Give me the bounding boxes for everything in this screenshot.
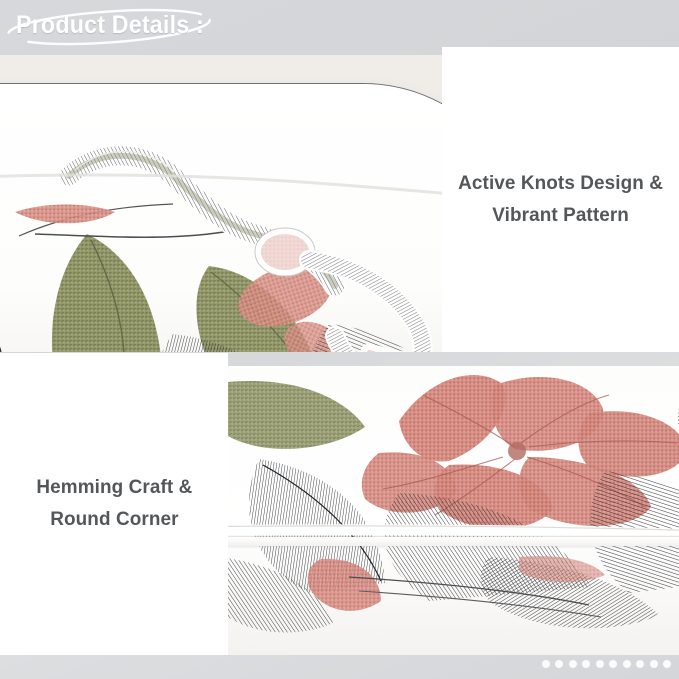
- caption-active-knots: Active Knots Design & Vibrant Pattern: [458, 168, 663, 231]
- carousel-dot[interactable]: [542, 660, 550, 668]
- carousel-dots[interactable]: [542, 660, 672, 668]
- carousel-dot[interactable]: [569, 660, 577, 668]
- botanical-print-bottom: [228, 366, 679, 655]
- fabric-pad-bottom: [228, 366, 679, 655]
- carousel-dot[interactable]: [663, 660, 671, 668]
- hem-seam-line: [228, 537, 679, 546]
- caption-line-1: Hemming Craft &: [36, 472, 192, 504]
- carousel-dot[interactable]: [650, 660, 658, 668]
- caption-line-1: Active Knots Design &: [458, 168, 663, 200]
- carousel-dot[interactable]: [582, 660, 590, 668]
- carousel-dot[interactable]: [596, 660, 604, 668]
- fabric-pad-top: [0, 83, 442, 352]
- caption-line-2: Vibrant Pattern: [458, 200, 663, 232]
- panel-active-knots: Active Knots Design & Vibrant Pattern: [442, 47, 679, 352]
- photo-knot-detail: [0, 55, 442, 352]
- caption-hemming-craft: Hemming Craft & Round Corner: [36, 472, 192, 535]
- carousel-dot[interactable]: [623, 660, 631, 668]
- header: Product Details :: [0, 0, 300, 56]
- carousel-dot[interactable]: [609, 660, 617, 668]
- panel-hemming-craft: Hemming Craft & Round Corner: [0, 353, 228, 655]
- photo-hem-corner: [228, 366, 679, 655]
- carousel-dot[interactable]: [636, 660, 644, 668]
- botanical-print-top: [0, 84, 442, 352]
- carousel-dot[interactable]: [555, 660, 563, 668]
- page-title: Product Details :: [16, 11, 204, 40]
- caption-line-2: Round Corner: [36, 504, 192, 536]
